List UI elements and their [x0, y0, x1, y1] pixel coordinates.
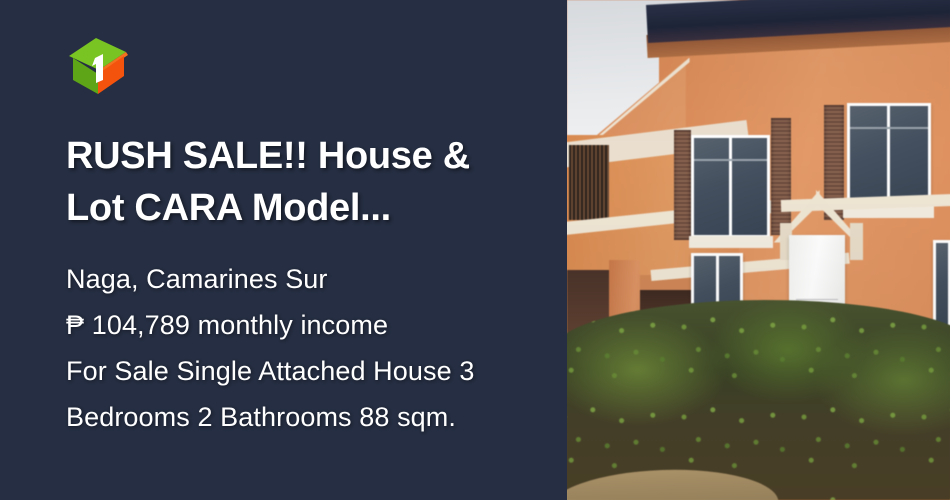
property-listing-card[interactable]: RUSH SALE!! House & Lot CARA Model... Na… — [0, 0, 950, 500]
house-logo-icon — [66, 34, 130, 96]
balcony-railing — [569, 145, 609, 220]
window-mullion — [887, 106, 890, 205]
listing-location: Naga, Camarines Sur — [66, 256, 527, 302]
lower-window — [933, 240, 950, 330]
window-shutter — [674, 130, 691, 240]
listing-details: Naga, Camarines Sur ₱ 104,789 monthly in… — [66, 256, 527, 440]
property-photo-scene — [567, 0, 950, 500]
lawn-texture — [567, 300, 950, 500]
upper-window — [691, 135, 770, 238]
listing-monthly-income: ₱ 104,789 monthly income — [66, 302, 527, 348]
window-mullion — [729, 138, 732, 235]
front-lawn — [567, 300, 950, 500]
window-transom — [694, 159, 767, 161]
window-transom — [850, 127, 928, 129]
property-photo — [567, 0, 950, 500]
page-title: RUSH SALE!! House & Lot CARA Model... — [66, 130, 496, 234]
listing-info-panel: RUSH SALE!! House & Lot CARA Model... Na… — [0, 0, 567, 500]
pediment-corbel — [850, 223, 862, 261]
window-sill — [689, 236, 773, 248]
house-logo — [66, 34, 130, 96]
listing-description: For Sale Single Attached House 3 Bedroom… — [66, 348, 527, 440]
